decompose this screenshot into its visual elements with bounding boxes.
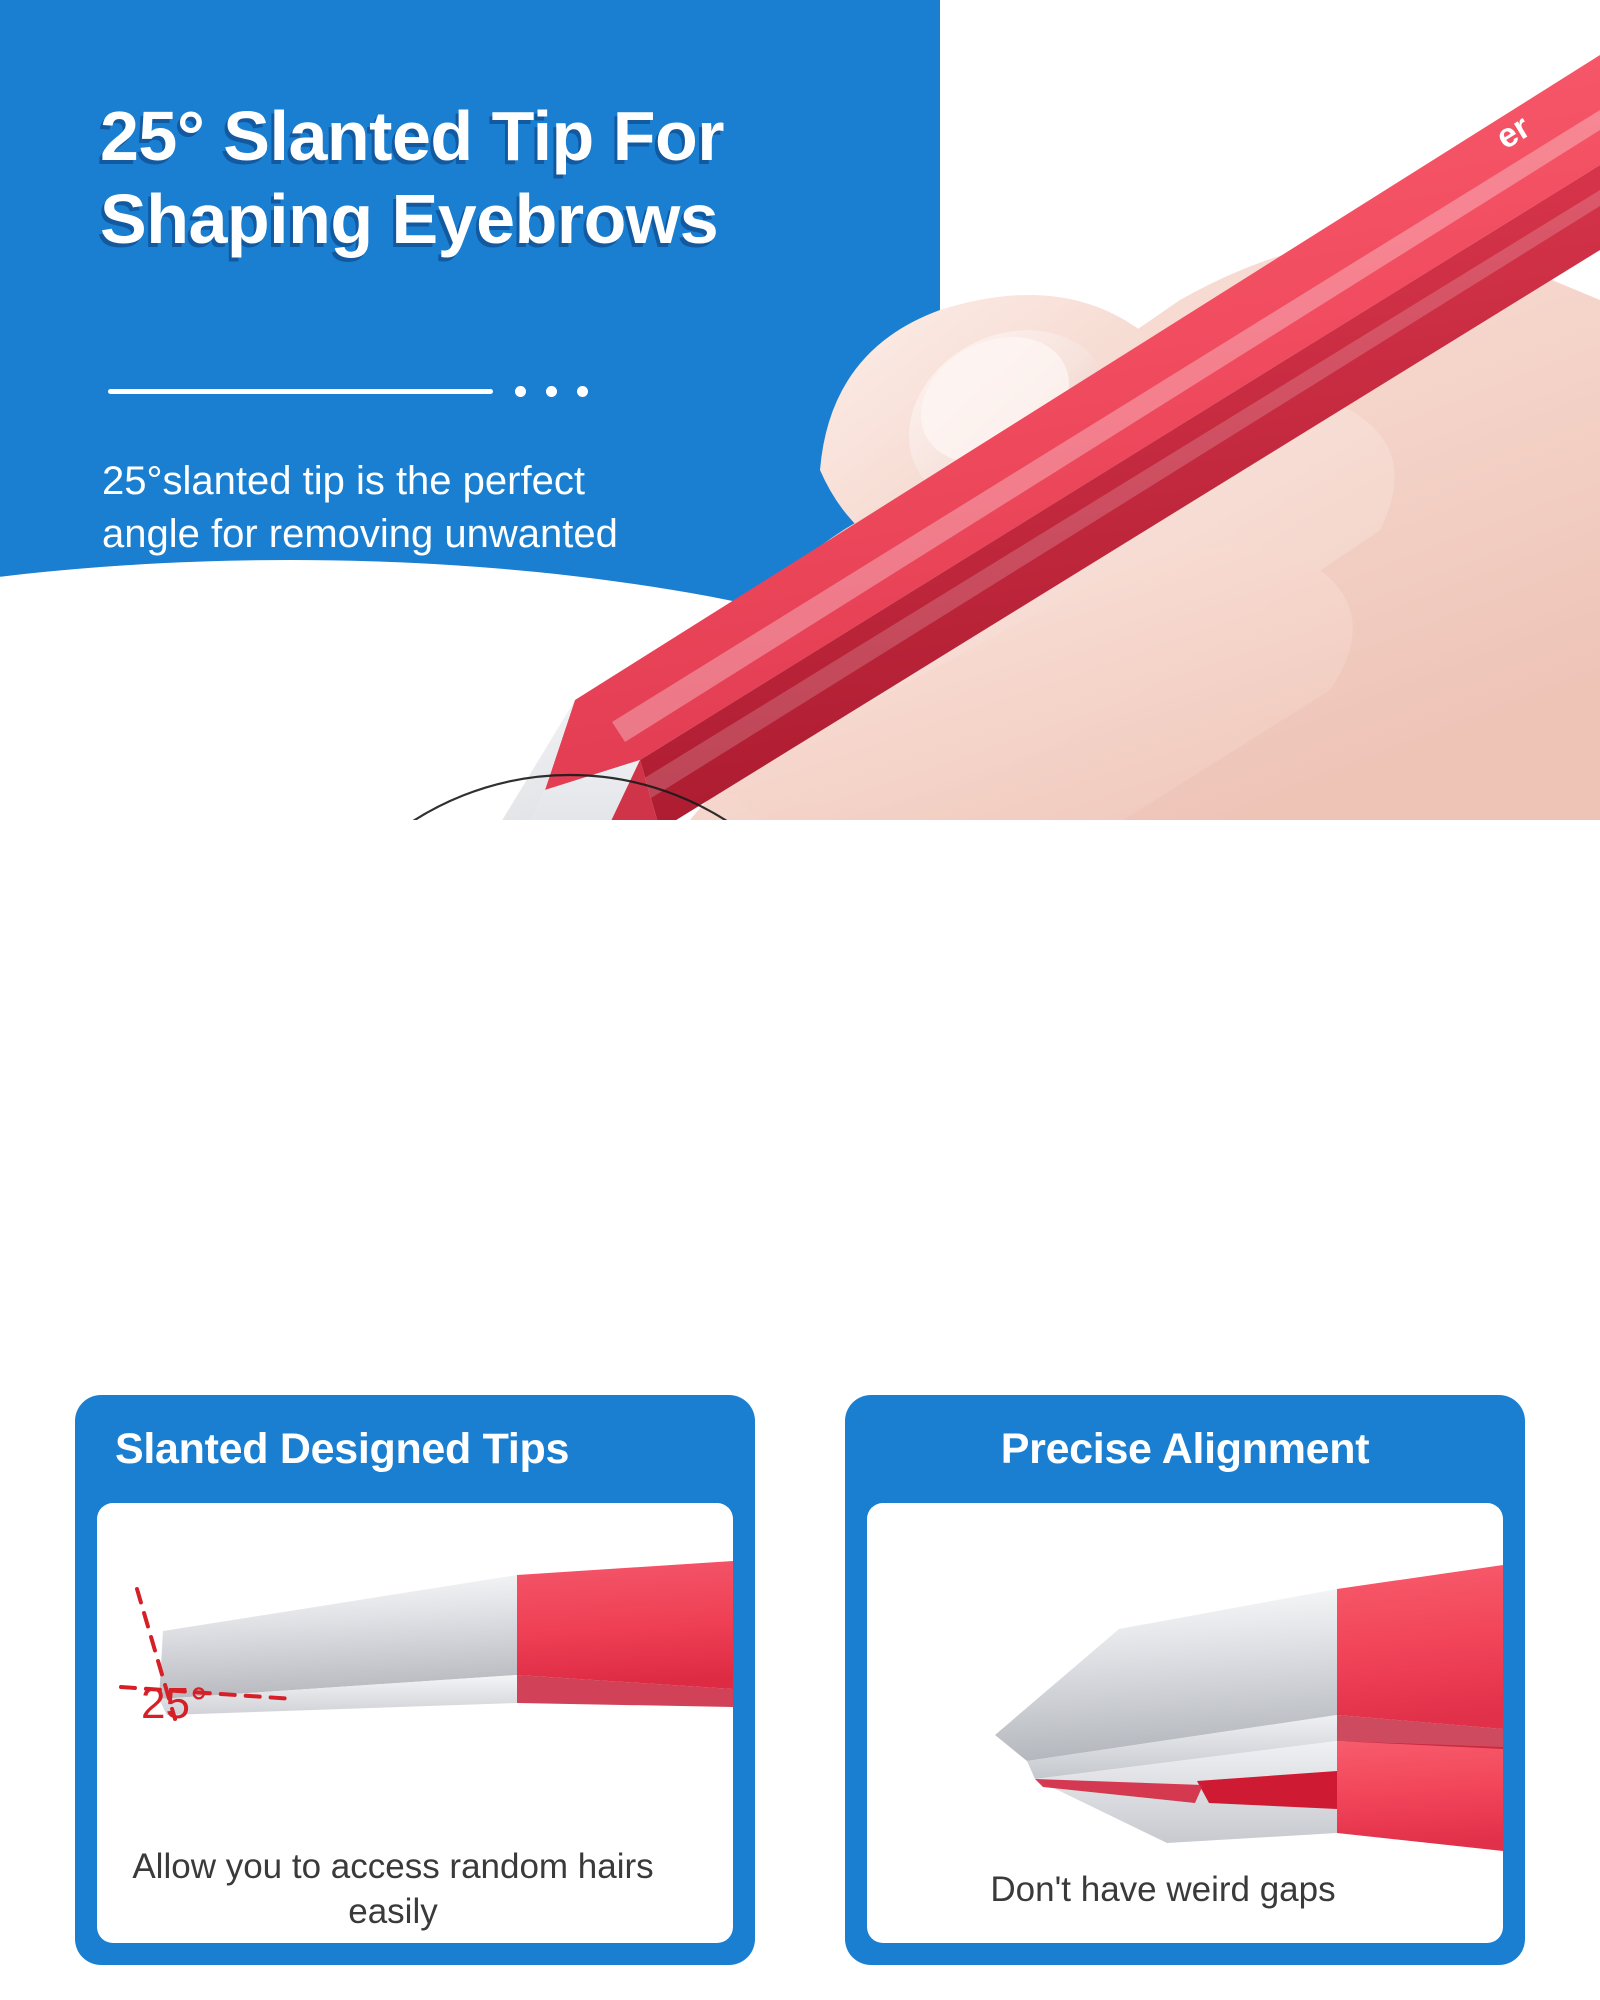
feature-card-title: Precise Alignment — [845, 1395, 1525, 1503]
divider-line — [108, 389, 493, 394]
feature-cards: Slanted Designed Tips — [0, 1395, 1600, 1965]
divider-dots — [515, 386, 588, 397]
page-title: 25° Slanted Tip For Shaping Eyebrows — [100, 95, 890, 260]
divider-dot — [515, 386, 526, 397]
angle-label: 25° — [141, 1679, 208, 1729]
brand-mark-partial: er — [1490, 108, 1537, 157]
feature-card-title: Slanted Designed Tips — [75, 1395, 755, 1503]
feature-card-caption: Allow you to access random hairs easily — [105, 1845, 681, 1935]
feature-card-slanted-designed-tips: Slanted Designed Tips — [75, 1395, 755, 1965]
divider-dot — [546, 386, 557, 397]
page-subtitle: 25°slanted tip is the perfect angle for … — [102, 455, 642, 613]
divider-dot — [577, 386, 588, 397]
hero-section: er 25° Slanted Tip For Shaping Eyebrows … — [0, 0, 1600, 820]
divider — [108, 386, 588, 397]
feature-card-caption: Don't have weird gaps — [875, 1868, 1451, 1913]
product-feature-page: er 25° Slanted Tip For Shaping Eyebrows … — [0, 0, 1600, 2000]
feature-card-precise-alignment: Precise Alignment — [845, 1395, 1525, 1965]
